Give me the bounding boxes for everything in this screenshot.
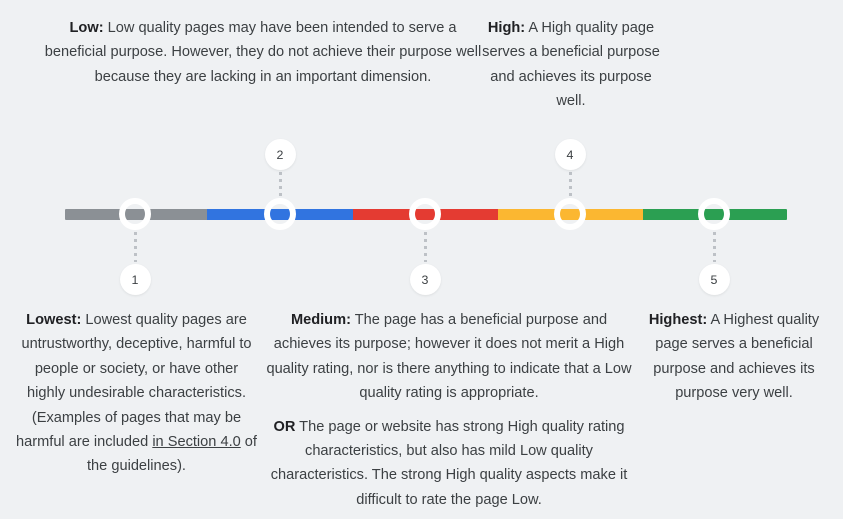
medium-label: Medium:: [291, 312, 351, 328]
number-bubble-5[interactable]: 5: [699, 264, 730, 295]
number-bubble-1[interactable]: 1: [120, 264, 151, 295]
number-bubble-1-label: 1: [132, 273, 139, 287]
number-bubble-3-label: 3: [422, 273, 429, 287]
number-bubble-2[interactable]: 2: [265, 139, 296, 170]
number-bubble-4[interactable]: 4: [555, 139, 586, 170]
low-description-block: Low: Low quality pages may have been int…: [42, 16, 484, 89]
lowest-label: Lowest:: [26, 312, 81, 328]
low-label: Low:: [70, 20, 104, 36]
medium-description-block: Medium: The page has a beneficial purpos…: [264, 308, 634, 512]
medium-or-body: The page or website has strong High qual…: [271, 419, 628, 508]
lowest-description-block: Lowest: Lowest quality pages are untrust…: [14, 308, 259, 479]
lowest-body-part1: Lowest quality pages are untrustworthy, …: [16, 312, 252, 450]
connector-dots-4: [569, 172, 572, 200]
high-label: High:: [488, 20, 525, 36]
number-bubble-4-label: 4: [567, 148, 574, 162]
connector-dots-1: [134, 232, 137, 262]
section-4-link[interactable]: in Section 4.0: [152, 434, 240, 450]
ring-marker-5[interactable]: [698, 198, 730, 230]
connector-dots-5: [713, 232, 716, 262]
high-description-block: High: A High quality page serves a benef…: [478, 16, 664, 114]
rating-scale-diagram: Low: Low quality pages may have been int…: [0, 0, 843, 519]
number-bubble-3[interactable]: 3: [410, 264, 441, 295]
highest-description-block: Highest: A Highest quality page serves a…: [640, 308, 828, 406]
connector-dots-3: [424, 232, 427, 262]
ring-marker-3[interactable]: [409, 198, 441, 230]
ring-marker-1[interactable]: [119, 198, 151, 230]
number-bubble-2-label: 2: [277, 148, 284, 162]
number-bubble-5-label: 5: [711, 273, 718, 287]
ring-marker-2[interactable]: [264, 198, 296, 230]
medium-or-label: OR: [274, 419, 296, 435]
highest-label: Highest:: [649, 312, 707, 328]
ring-marker-4[interactable]: [554, 198, 586, 230]
connector-dots-2: [279, 172, 282, 200]
low-body: Low quality pages may have been intended…: [45, 20, 481, 85]
